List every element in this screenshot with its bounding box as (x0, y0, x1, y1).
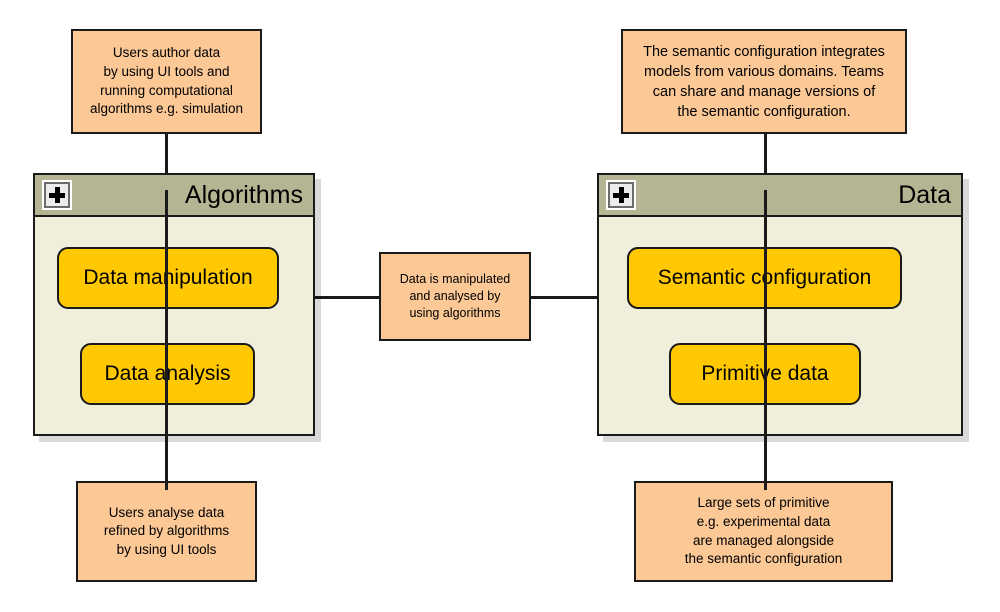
package-algorithms-title: Algorithms (185, 183, 303, 208)
note-center: Data is manipulated and analysed by usin… (379, 252, 531, 341)
note-bottom-left: Users analyse data refined by algorithms… (76, 481, 257, 582)
note-top-left-text: Users author data by using UI tools and … (79, 44, 254, 119)
note-center-text: Data is manipulated and analysed by usin… (387, 271, 523, 323)
diagram-canvas: Users author data by using UI tools and … (0, 0, 1000, 612)
package-algorithms-body: Data manipulation Data analysis (35, 217, 313, 434)
package-data-body: Semantic configuration Primitive data (599, 217, 961, 434)
element-data-manipulation-label: Data manipulation (83, 266, 252, 290)
note-bottom-right-text: Large sets of primitive e.g. experimenta… (642, 494, 885, 569)
plus-icon[interactable] (42, 180, 72, 210)
package-data-title: Data (898, 183, 951, 208)
plus-glyph (613, 187, 629, 203)
package-data[interactable]: Data Semantic configuration Primitive da… (597, 173, 963, 436)
plus-icon[interactable] (606, 180, 636, 210)
note-top-left: Users author data by using UI tools and … (71, 29, 262, 134)
connector-algorithms-to-center-note (315, 296, 380, 299)
package-algorithms[interactable]: Algorithms Data manipulation Data analys… (33, 173, 315, 436)
note-top-right: The semantic configuration integrates mo… (621, 29, 907, 134)
note-top-right-text: The semantic configuration integrates mo… (629, 42, 899, 122)
connector-algorithms-inner-left (165, 190, 168, 490)
package-data-header: Data (599, 175, 961, 217)
note-bottom-left-text: Users analyse data refined by algorithms… (84, 504, 249, 560)
plus-icon-box (44, 182, 70, 208)
plus-glyph (49, 187, 65, 203)
connector-data-inner-right (764, 190, 767, 490)
connector-center-note-to-data (530, 296, 597, 299)
note-bottom-right: Large sets of primitive e.g. experimenta… (634, 481, 893, 582)
element-data-manipulation[interactable]: Data manipulation (57, 247, 279, 309)
package-algorithms-header: Algorithms (35, 175, 313, 217)
plus-icon-box (608, 182, 634, 208)
